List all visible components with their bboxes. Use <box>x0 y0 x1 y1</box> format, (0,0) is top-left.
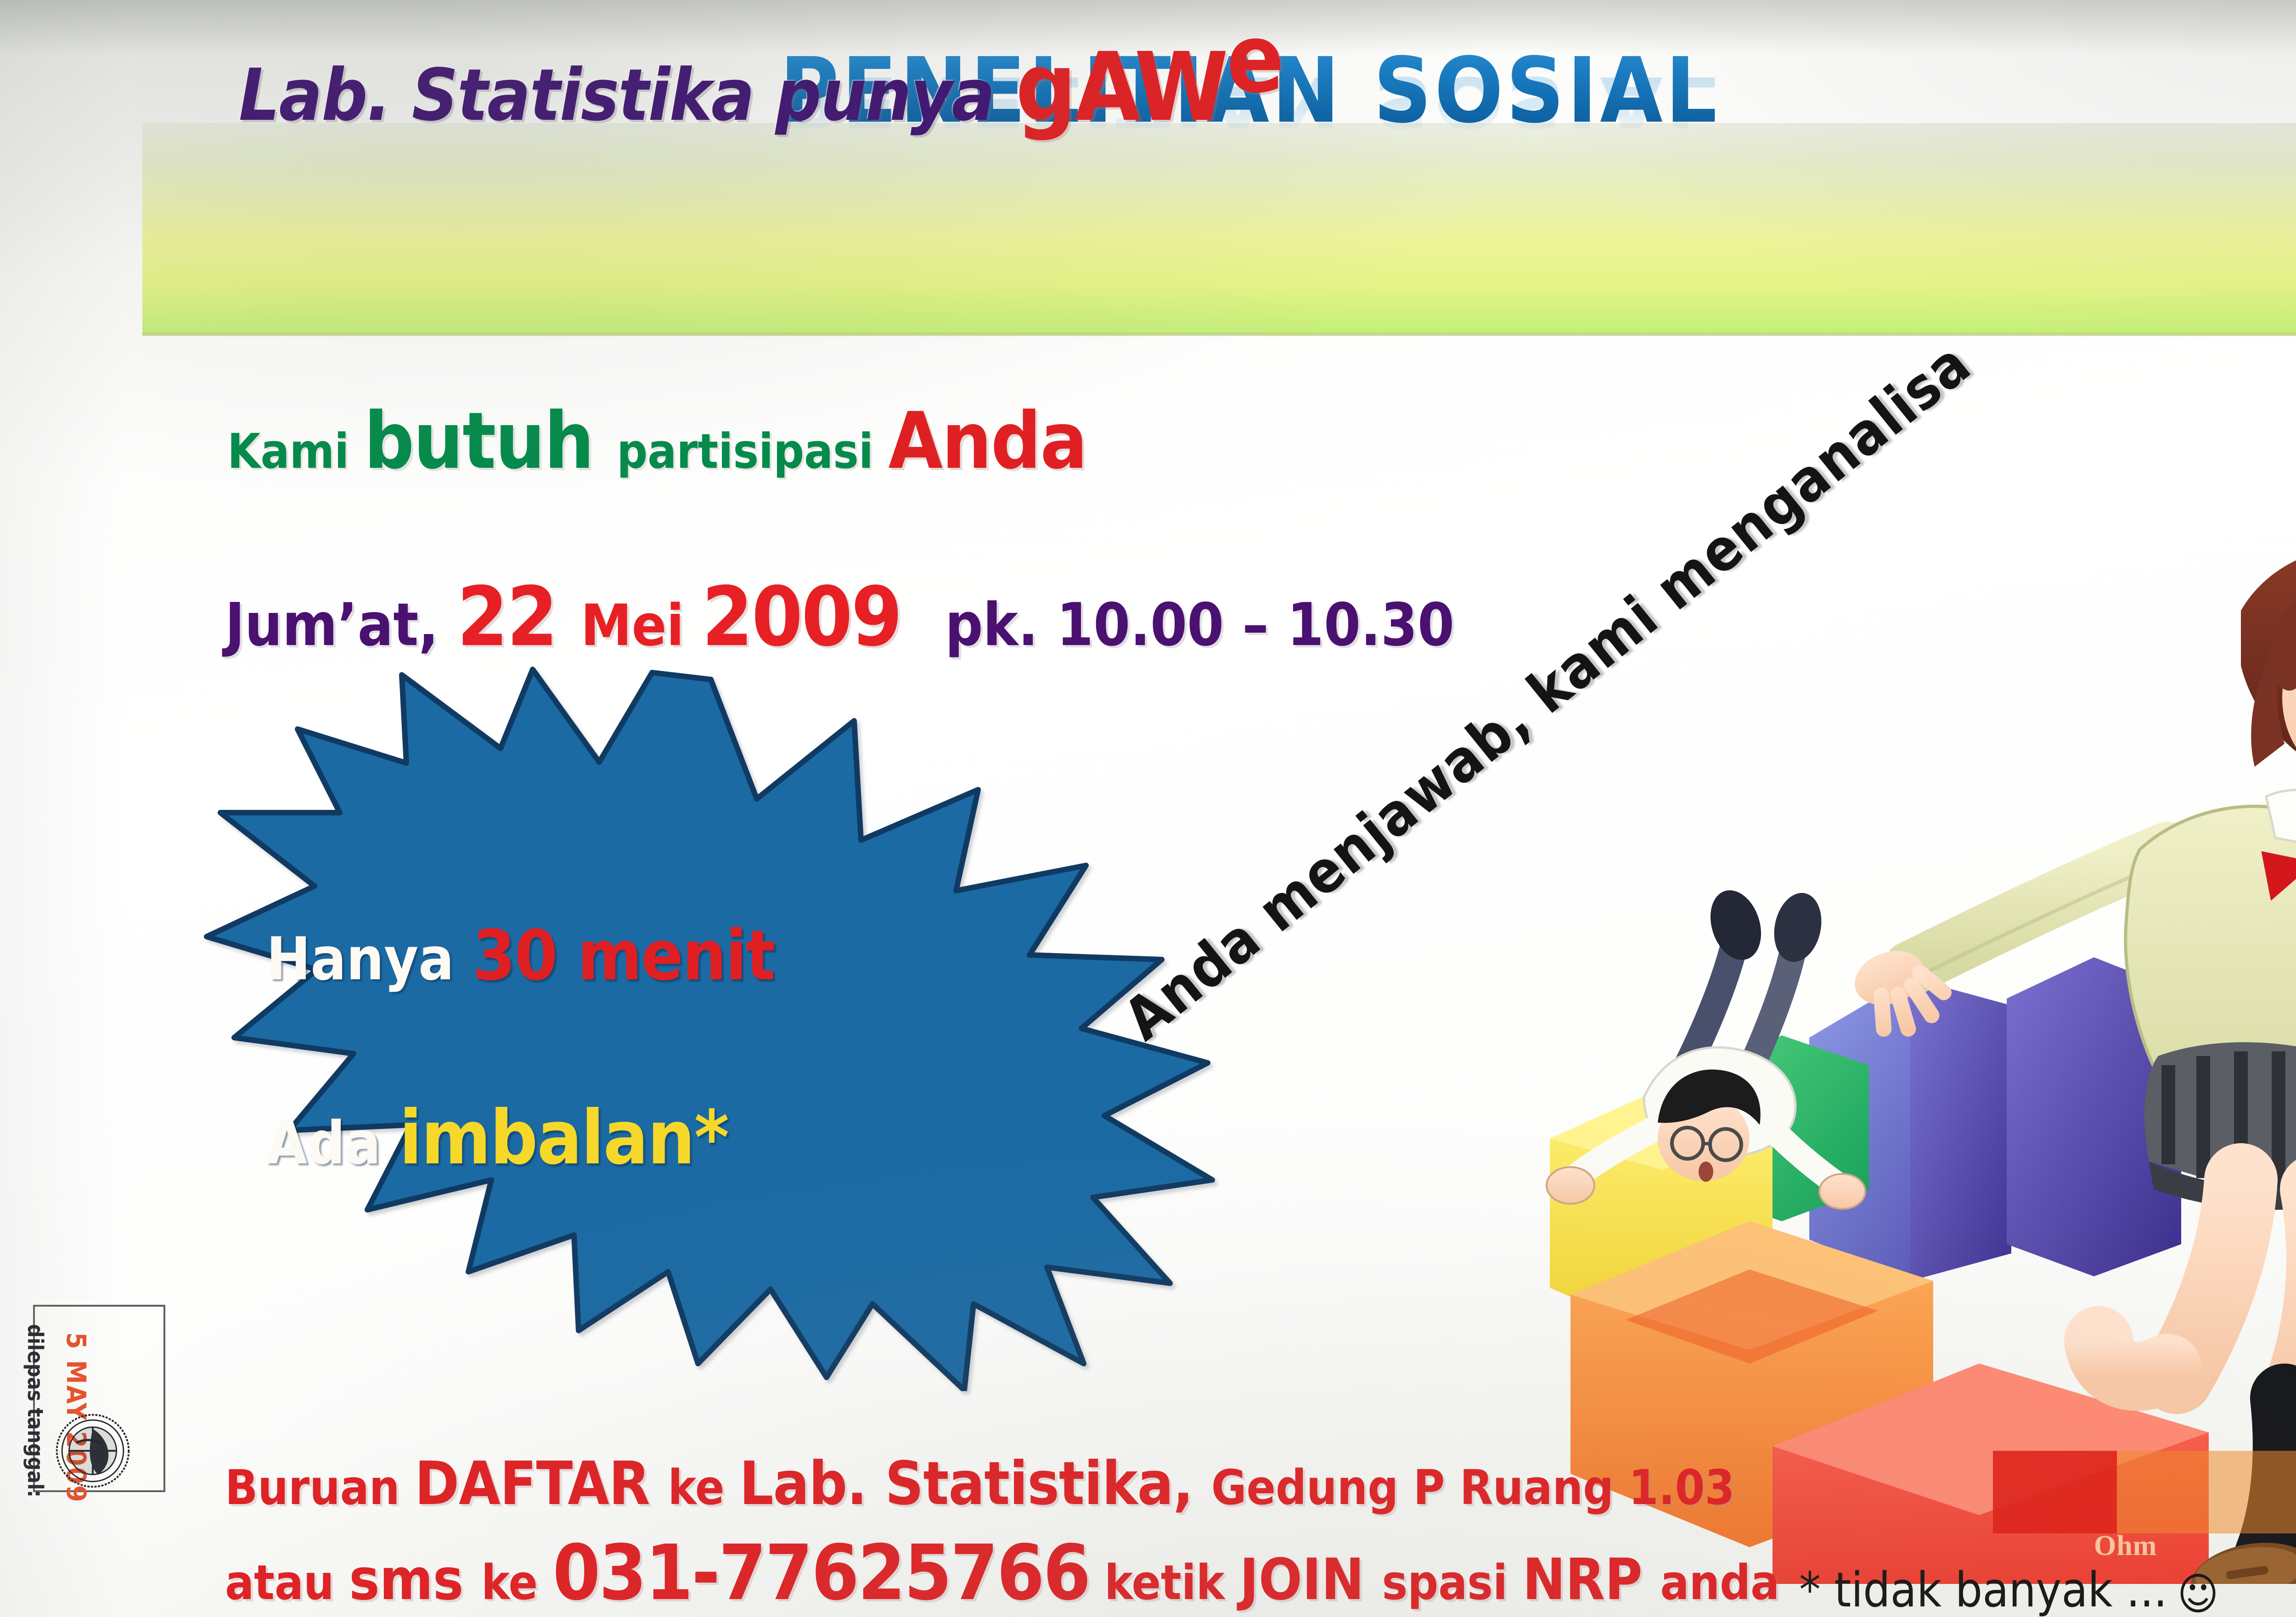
poster-canvas: Lab. Statistika punya gAWe PENELITIAN SO… <box>0 0 2296 1617</box>
participation-line: Kami butuh partisipasi Anda <box>227 396 1086 487</box>
footnote-text: * tidak banyak ... <box>1799 1562 2167 1617</box>
sms-ke: ke <box>481 1555 552 1611</box>
starburst-shape-icon <box>152 661 1281 1391</box>
library-stamp: dilepas tanggal: 5 MAY 2009 <box>33 1305 165 1492</box>
participation-kami: Kami <box>227 423 364 479</box>
girl-head-group <box>2241 496 2296 785</box>
event-date: 22 <box>457 569 581 664</box>
participation-butuh: butuh <box>364 396 617 487</box>
sms-ketik: ketik <box>1090 1555 1240 1611</box>
sms-nrp: NRP <box>1523 1547 1660 1613</box>
sms-join: JOIN <box>1240 1547 1382 1613</box>
footnote: * tidak banyak ...☺ <box>1799 1562 2219 1617</box>
sms-spasi: spasi <box>1382 1555 1523 1611</box>
participation-anda: Anda <box>888 396 1086 487</box>
ohm-watermark: Ohm <box>2094 1530 2157 1562</box>
title-gradient-band <box>142 123 2296 335</box>
kicker-gawe-main: gAW <box>1016 32 1227 142</box>
register-buruan: Buruan <box>225 1460 415 1516</box>
stamp-label-text: dilepas tanggal: <box>23 1324 48 1498</box>
title-band-bottom-edge <box>142 332 2296 336</box>
starburst-badge: Hanya 30 menit Ada imbalan* <box>152 661 1281 1391</box>
event-month: Mei <box>581 593 702 659</box>
sms-number[interactable]: 031-77625766 <box>553 1529 1090 1617</box>
sms-atau: atau <box>225 1555 349 1611</box>
register-ke: ke <box>668 1460 739 1516</box>
smiley-face-icon: ☺ <box>2178 1568 2219 1617</box>
register-room: Gedung P Ruang 1.03 <box>1211 1460 1735 1516</box>
participation-partisipasi: partisipasi <box>617 423 888 479</box>
register-line: Buruan DAFTAR ke Lab. Statistika, Gedung… <box>225 1449 1735 1518</box>
event-year: 2009 <box>702 569 901 664</box>
anime-illustration <box>1368 381 2296 1584</box>
register-lab: Lab. Statistika, <box>739 1449 1211 1518</box>
kicker-gawe-superscript: e <box>1227 4 1283 114</box>
anime-girl-and-boy-on-steps-icon <box>1368 381 2296 1584</box>
sms-label: sms <box>349 1547 481 1613</box>
event-day: Jum’at, <box>225 591 457 659</box>
sms-line: atau sms ke 031-77625766 ketik JOIN spas… <box>225 1529 1779 1617</box>
sms-anda: anda <box>1660 1555 1779 1611</box>
poster-kicker-line: Lab. Statistika punya gAWe <box>239 4 1283 142</box>
register-daftar: DAFTAR <box>415 1449 668 1518</box>
university-seal-icon <box>48 1411 138 1490</box>
event-datetime-line: Jum’at, 22 Mei 2009pk. 10.00 – 10.30 <box>225 569 1454 664</box>
kicker-gawe-text: gAWe <box>1016 32 1283 142</box>
kicker-lab-text: Lab. Statistika punya <box>239 53 1016 137</box>
